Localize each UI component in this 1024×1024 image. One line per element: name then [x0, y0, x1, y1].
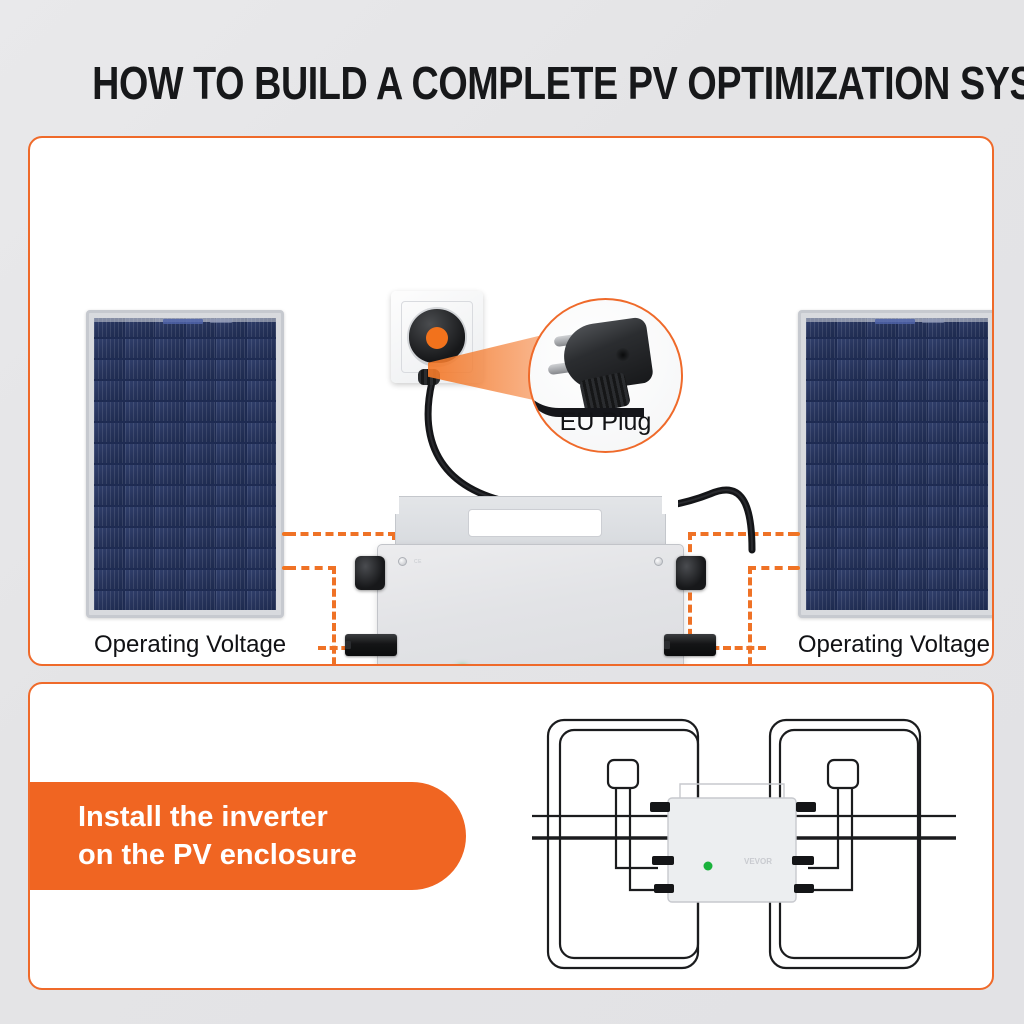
- solar-cell: [837, 528, 866, 547]
- solar-cell: [247, 570, 276, 589]
- solar-cell: [125, 360, 154, 379]
- solar-cell: [867, 402, 896, 421]
- solar-cell: [216, 360, 245, 379]
- install-callout-text: Install the inverter on the PV enclosure: [78, 798, 357, 874]
- solar-cell: [806, 549, 835, 568]
- diagram-status-led: [704, 862, 713, 871]
- diagram-mc4-left-mid: [652, 856, 674, 865]
- solar-cell: [898, 528, 927, 547]
- left-spec-block: Operating Voltage Range: 18-50V Maximum …: [94, 626, 394, 666]
- solar-cell: [898, 339, 927, 358]
- solar-cell: [155, 570, 184, 589]
- highlight-dot: [426, 327, 448, 349]
- solar-cell: [959, 591, 988, 610]
- magnifier-circle: EU Plug: [528, 298, 683, 453]
- solar-cell: [837, 507, 866, 526]
- solar-cell: [928, 591, 957, 610]
- certification-mark: CE: [414, 559, 422, 565]
- bracket-notch-left: [383, 496, 399, 514]
- solar-cell: [837, 423, 866, 442]
- solar-cell: [186, 423, 215, 442]
- solar-cell: [216, 549, 245, 568]
- solar-cell: [898, 570, 927, 589]
- lead-left-a: [616, 788, 658, 868]
- solar-cell: [959, 507, 988, 526]
- solar-cell: [94, 549, 123, 568]
- solar-cell: [186, 507, 215, 526]
- solar-cell: [837, 360, 866, 379]
- solar-cell: [928, 381, 957, 400]
- diagram-inverter: VEVOR: [668, 784, 796, 902]
- inverter-brand: VEVOR: [560, 661, 626, 666]
- solar-cell: [247, 339, 276, 358]
- solar-cell: [186, 339, 215, 358]
- solar-cell: [94, 402, 123, 421]
- diagram-mc4-right-mid: [792, 856, 814, 865]
- inverter-handle-slot: [468, 509, 602, 537]
- solar-cell: [959, 528, 988, 547]
- page-title: HOW TO BUILD A COMPLETE PV OPTIMIZATION …: [92, 56, 932, 110]
- solar-cell: [125, 339, 154, 358]
- solar-cell: [216, 444, 245, 463]
- solar-cell: [867, 360, 896, 379]
- solar-cell: [155, 423, 184, 442]
- solar-cell: [186, 360, 215, 379]
- solar-cell: [959, 486, 988, 505]
- bracket-notch-right: [662, 496, 678, 514]
- diagram-inverter-brand: VEVOR: [744, 857, 772, 866]
- diagram-mc4-left-low: [654, 884, 674, 893]
- top-card: EU Plug CE Dual Protection Green Means W…: [28, 136, 994, 666]
- diagram-inverter-bracket: [680, 784, 784, 798]
- solar-cell: [837, 465, 866, 484]
- solar-cell: [898, 444, 927, 463]
- right-spec-block: Operating Voltage Range: 18-50V Maximum …: [690, 626, 990, 666]
- solar-cell: [247, 381, 276, 400]
- solar-cell: [959, 381, 988, 400]
- solar-cell: [186, 570, 215, 589]
- diagram-mc4-right-top: [796, 802, 816, 812]
- solar-cell: [94, 339, 123, 358]
- pv-frame-right-inner: [780, 730, 918, 958]
- solar-cell: [94, 570, 123, 589]
- solar-cell: [928, 423, 957, 442]
- solar-cell: [837, 402, 866, 421]
- solar-cell: [898, 423, 927, 442]
- infographic-page: HOW TO BUILD A COMPLETE PV OPTIMIZATION …: [0, 0, 1024, 1024]
- solar-cell: [94, 423, 123, 442]
- solar-cell: [867, 444, 896, 463]
- solar-cell: [216, 507, 245, 526]
- solar-cell: [806, 507, 835, 526]
- solar-cell: [94, 528, 123, 547]
- solar-cell: [928, 339, 957, 358]
- solar-cell: [898, 381, 927, 400]
- solar-cell: [928, 465, 957, 484]
- solar-cell: [806, 423, 835, 442]
- solar-cell: [155, 549, 184, 568]
- solar-cell: [837, 381, 866, 400]
- solar-cell: [806, 591, 835, 610]
- solar-cell: [155, 465, 184, 484]
- solar-cell: [216, 570, 245, 589]
- solar-cell: [94, 486, 123, 505]
- solar-cell: [928, 402, 957, 421]
- solar-cell: [867, 528, 896, 547]
- bottom-card: Install the inverter on the PV enclosure: [28, 682, 994, 990]
- solar-cell: [867, 591, 896, 610]
- solar-cell: [898, 402, 927, 421]
- right-voltage-line1: Operating Voltage: [798, 631, 990, 658]
- solar-cell: [867, 339, 896, 358]
- panel-sticker-small: [922, 319, 944, 323]
- solar-cell: [155, 402, 184, 421]
- solar-cell: [928, 486, 957, 505]
- ac-port-right: [676, 556, 706, 590]
- solar-cell: [186, 528, 215, 547]
- solar-cell: [247, 486, 276, 505]
- dashed-route-left-b-top: [288, 566, 336, 570]
- solar-cell: [125, 486, 154, 505]
- solar-cell: [155, 591, 184, 610]
- solar-cell: [898, 591, 927, 610]
- solar-cell: [186, 402, 215, 421]
- solar-panel-right: [798, 310, 994, 618]
- diagram-mc4-right-low: [794, 884, 814, 893]
- solar-cell: [959, 444, 988, 463]
- solar-cell: [806, 402, 835, 421]
- wiring-diagram: VEVOR: [508, 698, 978, 980]
- solar-cell: [247, 402, 276, 421]
- solar-cell: [216, 423, 245, 442]
- solar-cell: [867, 465, 896, 484]
- panel-sticker: [875, 319, 915, 324]
- solar-cell: [155, 381, 184, 400]
- solar-cell: [216, 465, 245, 484]
- panel-right-lead-positive: [788, 532, 800, 536]
- solar-cell: [806, 339, 835, 358]
- solar-cell: [867, 549, 896, 568]
- lead-right-a: [808, 788, 838, 868]
- solar-cell: [186, 444, 215, 463]
- panel-right-lead-negative: [788, 566, 800, 570]
- solar-cell: [898, 360, 927, 379]
- solar-cell: [928, 528, 957, 547]
- solar-panel-left: [86, 310, 284, 618]
- solar-cell: [186, 465, 215, 484]
- solar-cell: [155, 507, 184, 526]
- solar-cell: [837, 339, 866, 358]
- solar-cell: [806, 528, 835, 547]
- junction-box-left: [608, 760, 638, 788]
- solar-cell: [959, 570, 988, 589]
- solar-cell: [125, 423, 154, 442]
- solar-cell: [186, 549, 215, 568]
- solar-cell: [94, 381, 123, 400]
- screw-top-right: [654, 557, 663, 566]
- solar-cell: [216, 381, 245, 400]
- solar-cell: [898, 465, 927, 484]
- solar-cell: [867, 423, 896, 442]
- solar-cell: [837, 444, 866, 463]
- screw-top-left: [398, 557, 407, 566]
- solar-cell: [216, 486, 245, 505]
- eu-plug-label: EU Plug: [530, 408, 681, 437]
- solar-cell: [247, 465, 276, 484]
- solar-cell: [867, 486, 896, 505]
- solar-cell: [125, 528, 154, 547]
- solar-cell: [155, 339, 184, 358]
- junction-box-right: [828, 760, 858, 788]
- micro-inverter: CE Dual Protection Green Means Work VEVO…: [377, 496, 684, 666]
- solar-cell: [94, 465, 123, 484]
- solar-cell: [125, 591, 154, 610]
- solar-cell: [125, 381, 154, 400]
- panel-sticker-small: [210, 319, 232, 323]
- inverter-body: CE Dual Protection Green Means Work VEVO…: [377, 544, 684, 666]
- solar-cell: [125, 444, 154, 463]
- solar-cell: [837, 591, 866, 610]
- solar-cell: [928, 360, 957, 379]
- solar-cell: [94, 591, 123, 610]
- solar-cell: [155, 444, 184, 463]
- solar-cell: [928, 549, 957, 568]
- solar-cell: [247, 528, 276, 547]
- solar-cell: [806, 570, 835, 589]
- solar-cell: [125, 507, 154, 526]
- solar-cell: [125, 465, 154, 484]
- solar-panel-right-cells: [806, 318, 988, 610]
- solar-cell: [898, 549, 927, 568]
- solar-cell: [94, 444, 123, 463]
- solar-cell: [155, 360, 184, 379]
- solar-cell: [959, 423, 988, 442]
- status-led: [456, 665, 469, 666]
- solar-cell: [125, 402, 154, 421]
- solar-cell: [959, 339, 988, 358]
- solar-cell: [155, 486, 184, 505]
- left-voltage-line1: Operating Voltage: [94, 631, 286, 658]
- solar-cell: [247, 549, 276, 568]
- solar-cell: [867, 507, 896, 526]
- solar-cell: [806, 444, 835, 463]
- solar-cell: [959, 465, 988, 484]
- callout-line-2: on the PV enclosure: [78, 839, 357, 871]
- diagram-mc4-left-top: [650, 802, 670, 812]
- panel-left-lead-positive: [282, 532, 294, 536]
- solar-cell: [837, 486, 866, 505]
- solar-cell: [125, 570, 154, 589]
- solar-cell: [867, 381, 896, 400]
- solar-cell: [928, 570, 957, 589]
- panel-sticker: [163, 319, 203, 324]
- solar-cell: [837, 549, 866, 568]
- solar-cell: [186, 591, 215, 610]
- ac-port-left: [355, 556, 385, 590]
- solar-cell: [216, 591, 245, 610]
- solar-cell: [247, 423, 276, 442]
- solar-cell: [186, 486, 215, 505]
- solar-cell: [806, 381, 835, 400]
- solar-cell: [898, 507, 927, 526]
- solar-cell: [898, 486, 927, 505]
- solar-cell: [125, 549, 154, 568]
- solar-cell: [94, 360, 123, 379]
- solar-cell: [806, 465, 835, 484]
- solar-panel-left-cells: [94, 318, 276, 610]
- solar-cell: [216, 528, 245, 547]
- diagram-inverter-body: [668, 798, 796, 902]
- solar-cell: [155, 528, 184, 547]
- solar-cell: [806, 486, 835, 505]
- solar-cell: [247, 591, 276, 610]
- solar-cell: [216, 402, 245, 421]
- solar-cell: [186, 381, 215, 400]
- solar-cell: [928, 507, 957, 526]
- solar-cell: [959, 402, 988, 421]
- solar-cell: [867, 570, 896, 589]
- callout-line-1: Install the inverter: [78, 801, 328, 833]
- solar-cell: [216, 339, 245, 358]
- solar-cell: [928, 444, 957, 463]
- solar-cell: [247, 444, 276, 463]
- solar-cell: [837, 570, 866, 589]
- solar-cell: [959, 360, 988, 379]
- solar-cell: [94, 507, 123, 526]
- solar-cell: [959, 549, 988, 568]
- install-callout-pill: Install the inverter on the PV enclosure: [30, 782, 466, 890]
- panel-left-lead-negative: [282, 566, 294, 570]
- solar-cell: [247, 360, 276, 379]
- solar-cell: [247, 507, 276, 526]
- solar-cell: [806, 360, 835, 379]
